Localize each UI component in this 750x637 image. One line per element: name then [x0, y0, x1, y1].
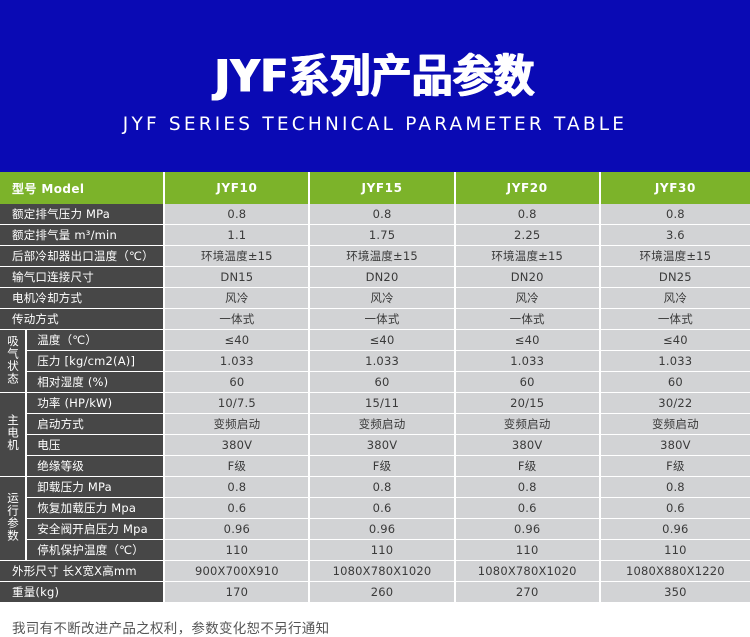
table-cell-value: 1.033	[309, 351, 454, 372]
row-group-label-running: 运行参数	[0, 477, 26, 561]
table-cell-value: 0.96	[600, 519, 750, 540]
row-label: 后部冷却器出口温度（℃）	[0, 246, 164, 267]
table-cell-value: 380V	[309, 435, 454, 456]
table-row: 输气口连接尺寸DN15DN20DN20DN25	[0, 267, 750, 288]
table-cell-value: ≤40	[455, 330, 600, 351]
table-row: 外形尺寸 长X宽X高mm900X700X9101080X780X10201080…	[0, 561, 750, 582]
table-cell-value: 1.1	[164, 225, 309, 246]
table-cell-value: 270	[455, 582, 600, 603]
table-cell-value: DN15	[164, 267, 309, 288]
header-cell-model: 型号 Model	[0, 172, 164, 204]
table-cell-value: 变频启动	[164, 414, 309, 435]
table-cell-value: 1.033	[455, 351, 600, 372]
table-cell-value: 0.8	[600, 204, 750, 225]
table-cell-value: 一体式	[309, 309, 454, 330]
table-cell-value: ≤40	[309, 330, 454, 351]
table-cell-value: 0.8	[164, 477, 309, 498]
table-cell-value: 0.8	[455, 477, 600, 498]
table-cell-value: 380V	[600, 435, 750, 456]
table-cell-value: 1080X780X1020	[309, 561, 454, 582]
table-row: 额定排气压力 MPa0.80.80.80.8	[0, 204, 750, 225]
table-cell-value: 170	[164, 582, 309, 603]
row-label: 电压	[26, 435, 164, 456]
table-cell-value: 0.8	[600, 477, 750, 498]
table-row: 绝缘等级F级F级F级F级	[0, 456, 750, 477]
row-label: 启动方式	[26, 414, 164, 435]
table-cell-value: 350	[600, 582, 750, 603]
table-cell-value: 110	[309, 540, 454, 561]
table-cell-value: 一体式	[600, 309, 750, 330]
table-row: 后部冷却器出口温度（℃）环境温度±15环境温度±15环境温度±15环境温度±15	[0, 246, 750, 267]
table-cell-value: F级	[600, 456, 750, 477]
table-row: 压力 [kg/cm2(A)]1.0331.0331.0331.033	[0, 351, 750, 372]
row-label: 外形尺寸 长X宽X高mm	[0, 561, 164, 582]
table-cell-value: DN25	[600, 267, 750, 288]
table-row: 相对湿度 (%)60606060	[0, 372, 750, 393]
table-cell-value: 风冷	[309, 288, 454, 309]
row-label: 卸载压力 MPa	[26, 477, 164, 498]
table-header-row: 型号 ModelJYF10JYF15JYF20JYF30	[0, 172, 750, 204]
table-cell-value: 260	[309, 582, 454, 603]
row-label: 停机保护温度（℃）	[26, 540, 164, 561]
table-cell-value: ≤40	[164, 330, 309, 351]
table-cell-value: 环境温度±15	[309, 246, 454, 267]
header-cell-model-jyf30: JYF30	[600, 172, 750, 204]
table-cell-value: 1080X880X1220	[600, 561, 750, 582]
table-cell-value: 一体式	[455, 309, 600, 330]
table-cell-value: 20/15	[455, 393, 600, 414]
row-label: 电机冷却方式	[0, 288, 164, 309]
table-cell-value: 0.6	[455, 498, 600, 519]
table-cell-value: 60	[309, 372, 454, 393]
table-row: 吸气状态温度（℃）≤40≤40≤40≤40	[0, 330, 750, 351]
table-cell-value: DN20	[309, 267, 454, 288]
table-row: 恢复加载压力 Mpa0.60.60.60.6	[0, 498, 750, 519]
table-cell-value: F级	[455, 456, 600, 477]
table-row: 运行参数卸载压力 MPa0.80.80.80.8	[0, 477, 750, 498]
table-cell-value: 1.75	[309, 225, 454, 246]
table-cell-value: 60	[164, 372, 309, 393]
table-row: 电压380V380V380V380V	[0, 435, 750, 456]
table-cell-value: 0.8	[164, 204, 309, 225]
table-cell-value: 110	[164, 540, 309, 561]
table-cell-value: 0.6	[164, 498, 309, 519]
row-label: 温度（℃）	[26, 330, 164, 351]
table-cell-value: 变频启动	[309, 414, 454, 435]
row-group-label-motor: 主电机	[0, 393, 26, 477]
row-label: 重量(kg)	[0, 582, 164, 603]
table-cell-value: 1.033	[600, 351, 750, 372]
header-cell-model-jyf20: JYF20	[455, 172, 600, 204]
table-cell-value: F级	[309, 456, 454, 477]
table-cell-value: 110	[600, 540, 750, 561]
table-cell-value: 1.033	[164, 351, 309, 372]
table-cell-value: 0.96	[455, 519, 600, 540]
table-cell-value: 0.8	[455, 204, 600, 225]
footnote-text: 我司有不断改进产品之权利，参数变化恕不另行通知	[0, 617, 750, 637]
header-cell-model-jyf10: JYF10	[164, 172, 309, 204]
table-cell-value: 0.8	[309, 204, 454, 225]
table-cell-value: 110	[455, 540, 600, 561]
table-cell-value: 10/7.5	[164, 393, 309, 414]
table-cell-value: 一体式	[164, 309, 309, 330]
table-cell-value: 60	[600, 372, 750, 393]
table-cell-value: 380V	[455, 435, 600, 456]
spec-table-body: 型号 ModelJYF10JYF15JYF20JYF30额定排气压力 MPa0.…	[0, 172, 750, 602]
table-cell-value: 380V	[164, 435, 309, 456]
row-group-label-intake: 吸气状态	[0, 330, 26, 393]
table-cell-value: 环境温度±15	[455, 246, 600, 267]
page-banner: JYF系列产品参数 JYF SERIES TECHNICAL PARAMETER…	[0, 0, 750, 172]
table-cell-value: 30/22	[600, 393, 750, 414]
table-cell-value: 风冷	[455, 288, 600, 309]
table-row: 停机保护温度（℃）110110110110	[0, 540, 750, 561]
table-cell-value: 60	[455, 372, 600, 393]
row-group-label-text: 运行参数	[6, 492, 19, 542]
table-cell-value: 变频启动	[455, 414, 600, 435]
table-cell-value: 0.96	[164, 519, 309, 540]
table-cell-value: 0.8	[309, 477, 454, 498]
row-label: 绝缘等级	[26, 456, 164, 477]
table-cell-value: 2.25	[455, 225, 600, 246]
table-cell-value: 环境温度±15	[600, 246, 750, 267]
row-label: 额定排气量 m³/min	[0, 225, 164, 246]
table-cell-value: ≤40	[600, 330, 750, 351]
table-row: 额定排气量 m³/min1.11.752.253.6	[0, 225, 750, 246]
table-cell-value: F级	[164, 456, 309, 477]
table-cell-value: DN20	[455, 267, 600, 288]
row-label: 恢复加载压力 Mpa	[26, 498, 164, 519]
table-cell-value: 0.96	[309, 519, 454, 540]
table-cell-value: 900X700X910	[164, 561, 309, 582]
table-row: 主电机功率 (HP/kW)10/7.515/1120/1530/22	[0, 393, 750, 414]
table-cell-value: 15/11	[309, 393, 454, 414]
table-cell-value: 风冷	[164, 288, 309, 309]
table-cell-value: 3.6	[600, 225, 750, 246]
row-label: 传动方式	[0, 309, 164, 330]
header-cell-model-jyf15: JYF15	[309, 172, 454, 204]
spec-table: 型号 ModelJYF10JYF15JYF20JYF30额定排气压力 MPa0.…	[0, 172, 750, 602]
row-group-label-text: 主电机	[6, 414, 19, 452]
row-label: 功率 (HP/kW)	[26, 393, 164, 414]
row-label: 相对湿度 (%)	[26, 372, 164, 393]
table-cell-value: 环境温度±15	[164, 246, 309, 267]
row-label: 压力 [kg/cm2(A)]	[26, 351, 164, 372]
table-row: 启动方式变频启动变频启动变频启动变频启动	[0, 414, 750, 435]
table-cell-value: 风冷	[600, 288, 750, 309]
table-cell-value: 变频启动	[600, 414, 750, 435]
table-row: 电机冷却方式风冷风冷风冷风冷	[0, 288, 750, 309]
banner-title-english: JYF SERIES TECHNICAL PARAMETER TABLE	[123, 114, 627, 135]
row-label: 额定排气压力 MPa	[0, 204, 164, 225]
table-cell-value: 0.6	[309, 498, 454, 519]
row-label: 安全阀开启压力 Mpa	[26, 519, 164, 540]
banner-title-chinese: JYF系列产品参数	[215, 53, 535, 100]
table-row: 安全阀开启压力 Mpa0.960.960.960.96	[0, 519, 750, 540]
spec-table-wrapper: 型号 ModelJYF10JYF15JYF20JYF30额定排气压力 MPa0.…	[0, 172, 750, 602]
table-cell-value: 0.6	[600, 498, 750, 519]
table-row: 传动方式一体式一体式一体式一体式	[0, 309, 750, 330]
row-group-label-text: 吸气状态	[6, 335, 19, 385]
table-cell-value: 1080X780X1020	[455, 561, 600, 582]
table-row: 重量(kg)170260270350	[0, 582, 750, 603]
row-label: 输气口连接尺寸	[0, 267, 164, 288]
